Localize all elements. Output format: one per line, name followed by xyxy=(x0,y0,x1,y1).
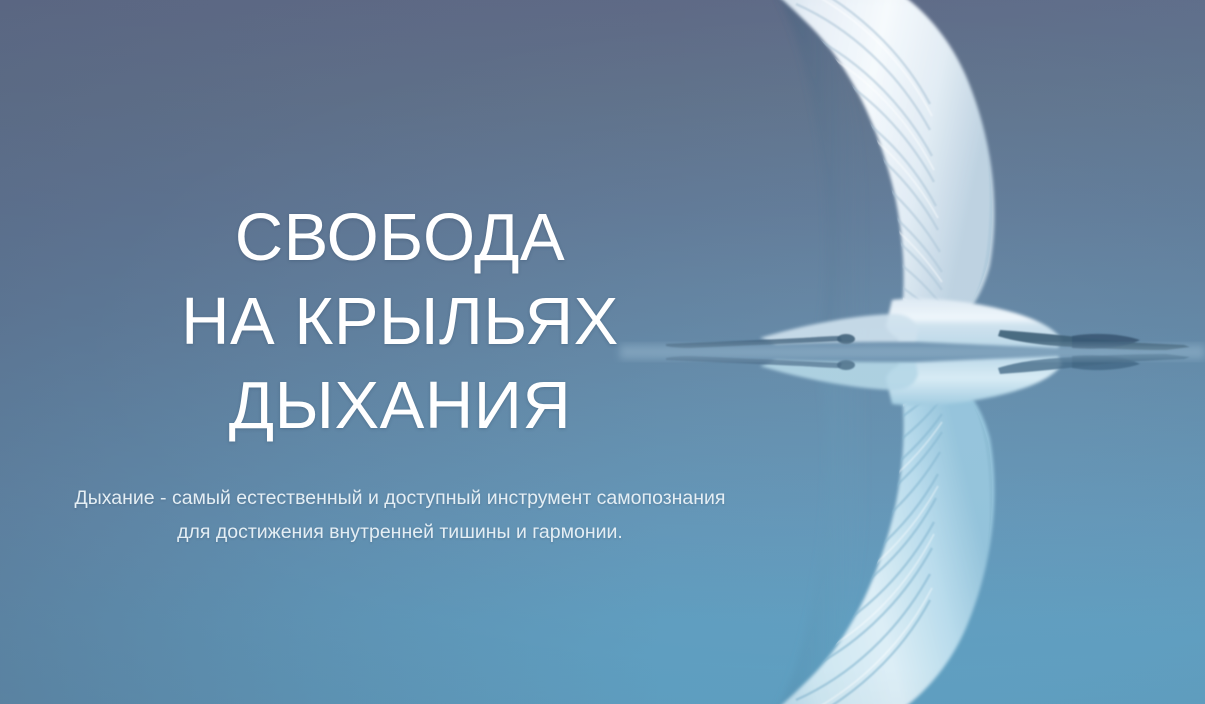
hero-subtitle: Дыхание - самый естественный и доступный… xyxy=(0,481,800,549)
headline-line-3: ДЫХАНИЯ xyxy=(0,364,800,448)
hero-banner: СВОБОДА НА КРЫЛЬЯХ ДЫХАНИЯ Дыхание - сам… xyxy=(0,0,1205,704)
headline-line-1: СВОБОДА xyxy=(0,196,800,280)
page-title: СВОБОДА НА КРЫЛЬЯХ ДЫХАНИЯ xyxy=(0,196,800,448)
headline-line-2: НА КРЫЛЬЯХ xyxy=(0,280,800,364)
subtitle-line-2: для достижения внутренней тишины и гармо… xyxy=(0,515,800,549)
subtitle-line-1: Дыхание - самый естественный и доступный… xyxy=(0,481,800,515)
